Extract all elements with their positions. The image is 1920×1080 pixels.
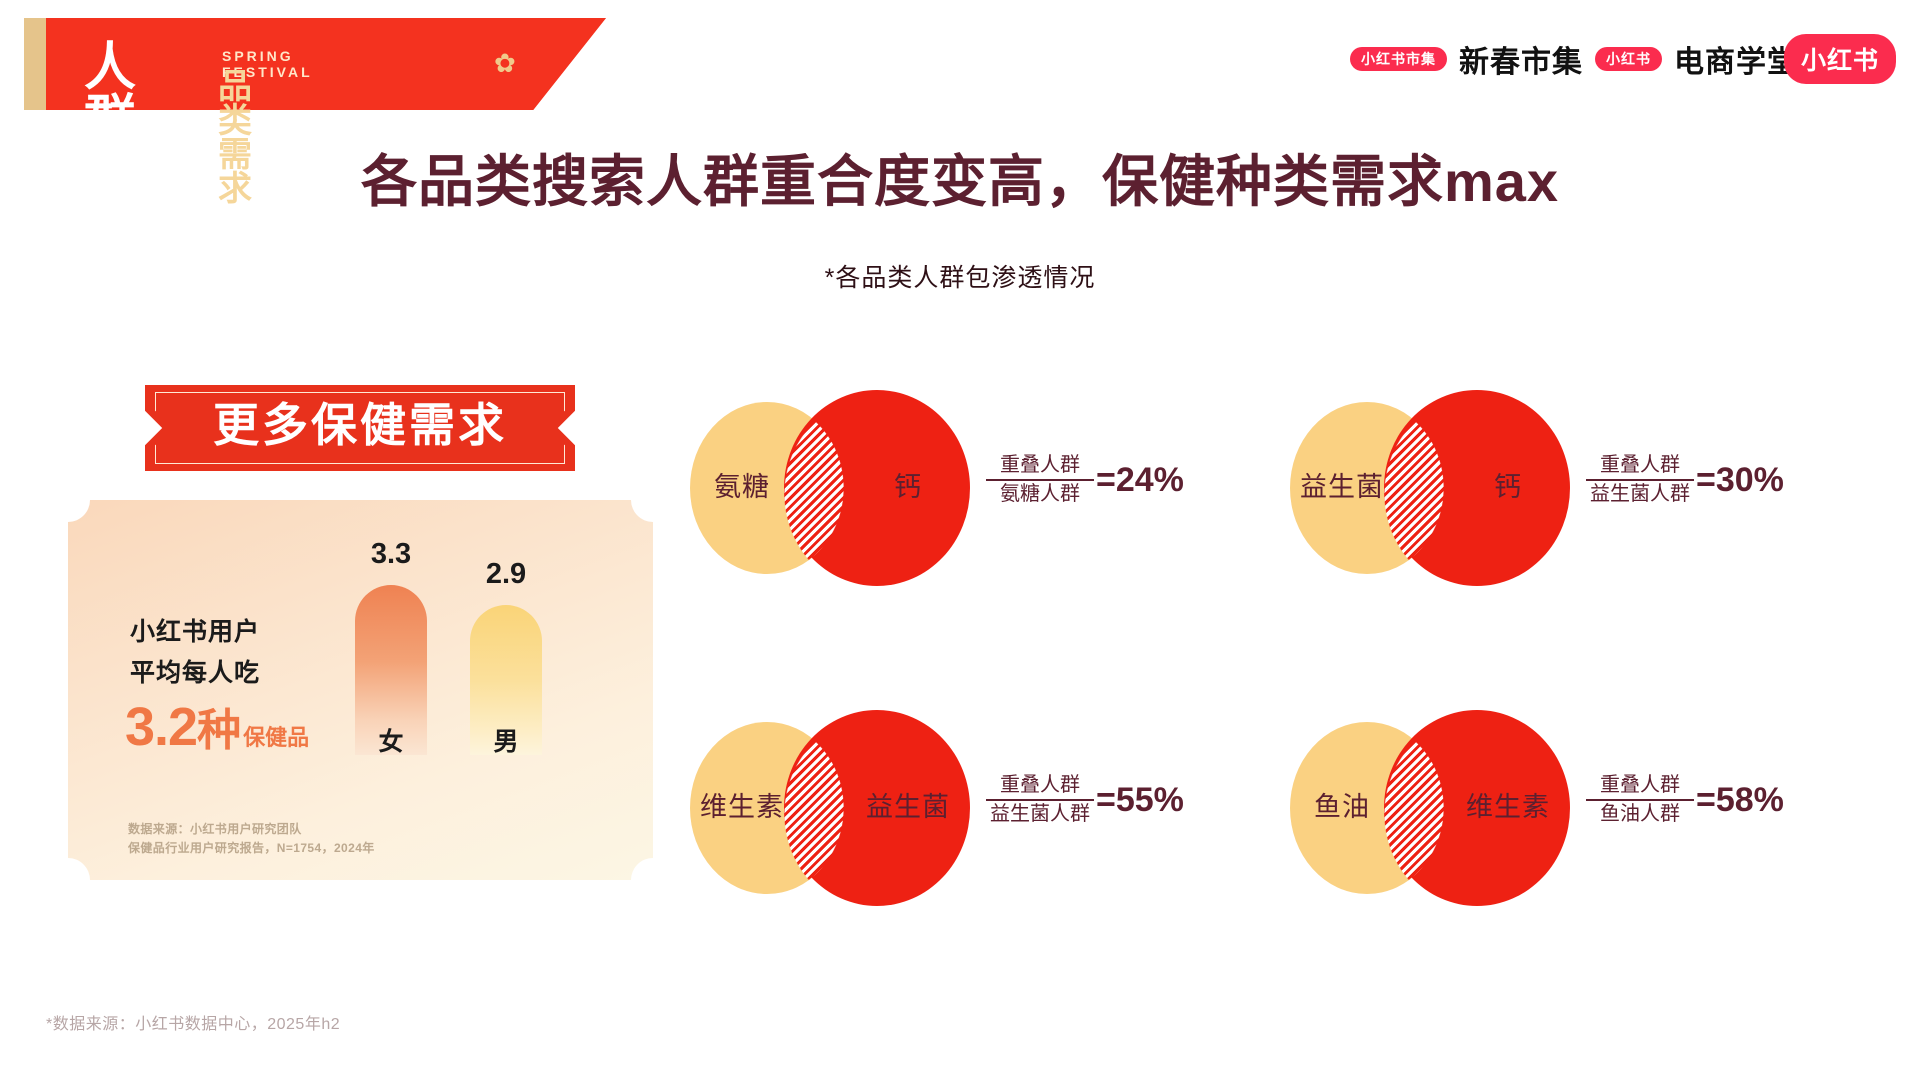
card-notch-bottom-left bbox=[46, 858, 90, 902]
logo-group: 小红书市集 新春市集 小红书 电商学堂 小红书 bbox=[1350, 34, 1896, 84]
plum-blossom-icon: ✿ bbox=[494, 50, 520, 76]
venn-1-right-label: 钙 bbox=[840, 474, 976, 501]
venn-2-fraction: 重叠人群 益生菌人群 bbox=[1586, 452, 1694, 508]
venn-3-left-label: 维生素 bbox=[682, 794, 802, 821]
card-line-1: 小红书用户 bbox=[130, 620, 260, 645]
venn-1-denominator: 氨糖人群 bbox=[1000, 481, 1080, 508]
school-pill-logo: 小红书 bbox=[1595, 47, 1662, 71]
venn-2-numerator: 重叠人群 bbox=[1600, 452, 1680, 479]
venn-3-result: =55% bbox=[1096, 783, 1184, 817]
market-pill-logo: 小红书市集 bbox=[1350, 47, 1447, 71]
school-wordmark: 电商学堂 bbox=[1674, 37, 1798, 81]
venn-1-fraction: 重叠人群 氨糖人群 bbox=[986, 452, 1094, 508]
venn-4-right-label: 维生素 bbox=[1440, 794, 1576, 821]
bar-male-value: 2.9 bbox=[470, 560, 542, 589]
venn-4-left-label: 鱼油 bbox=[1282, 794, 1402, 821]
venn-2-left-label: 益生菌 bbox=[1282, 474, 1402, 501]
card-line-2: 平均每人吃 bbox=[130, 661, 260, 686]
card-highlight-number: 3.2 bbox=[125, 700, 197, 754]
venn-4-formula: 重叠人群 鱼油人群 =58% bbox=[1586, 772, 1784, 828]
venn-1-result: =24% bbox=[1096, 463, 1184, 497]
card-highlight: 3.2 种 保健品 bbox=[125, 700, 309, 754]
card-notch-bottom-right bbox=[631, 858, 675, 902]
venn-2-formula: 重叠人群 益生菌人群 =30% bbox=[1586, 452, 1784, 508]
card-source-line-1: 数据来源：小红书用户研究团队 bbox=[128, 820, 375, 839]
ribbon-banner: 更多保健需求 bbox=[145, 385, 575, 471]
card-source-line-2: 保健品行业用户研究报告，N=1754，2024年 bbox=[128, 839, 375, 858]
venn-3-right-label: 益生菌 bbox=[840, 794, 976, 821]
venn-2-denominator: 益生菌人群 bbox=[1590, 481, 1690, 508]
header-gold-tab bbox=[24, 18, 46, 110]
venn-1-numerator: 重叠人群 bbox=[1000, 452, 1080, 479]
venn-3-denominator: 益生菌人群 bbox=[990, 801, 1090, 828]
bar-female-label: 女 bbox=[355, 730, 427, 755]
venn-4-fraction: 重叠人群 鱼油人群 bbox=[1586, 772, 1694, 828]
card-highlight-tail: 保健品 bbox=[243, 727, 309, 749]
venn-1-formula: 重叠人群 氨糖人群 =24% bbox=[986, 452, 1184, 508]
venn-2-result: =30% bbox=[1696, 463, 1784, 497]
venn-3-formula: 重叠人群 益生菌人群 =55% bbox=[986, 772, 1184, 828]
xiaohongshu-brand-badge: 小红书 bbox=[1784, 34, 1896, 84]
card-notch-top-left bbox=[46, 478, 90, 522]
market-wordmark: 新春市集 bbox=[1459, 37, 1583, 81]
header-main-label: 人群 bbox=[84, 42, 138, 146]
footer-source-note: *数据来源：小红书数据中心，2025年h2 bbox=[46, 1010, 340, 1034]
venn-3-numerator: 重叠人群 bbox=[1000, 772, 1080, 799]
venn-4-numerator: 重叠人群 bbox=[1600, 772, 1680, 799]
bar-female-value: 3.3 bbox=[355, 540, 427, 569]
venn-4-denominator: 鱼油人群 bbox=[1600, 801, 1680, 828]
page-title: 各品类搜索人群重合度变高，保健种类需求max bbox=[0, 154, 1920, 210]
card-source-note: 数据来源：小红书用户研究团队 保健品行业用户研究报告，N=1754，2024年 bbox=[128, 820, 375, 857]
page-subtitle: *各品类人群包渗透情况 bbox=[0, 258, 1920, 294]
venn-1-left-label: 氨糖 bbox=[682, 474, 802, 501]
slide-root: 人群 SPRING FESTIVAL 品类需求 ✿ 小红书市集 新春市集 小红书… bbox=[0, 0, 1920, 1080]
venn-4-result: =58% bbox=[1696, 783, 1784, 817]
ribbon-label: 更多保健需求 bbox=[145, 402, 575, 448]
card-highlight-unit: 种 bbox=[197, 709, 241, 753]
venn-3-fraction: 重叠人群 益生菌人群 bbox=[986, 772, 1094, 828]
card-notch-top-right bbox=[631, 478, 675, 522]
venn-2-right-label: 钙 bbox=[1440, 474, 1576, 501]
bar-male-label: 男 bbox=[470, 730, 542, 755]
